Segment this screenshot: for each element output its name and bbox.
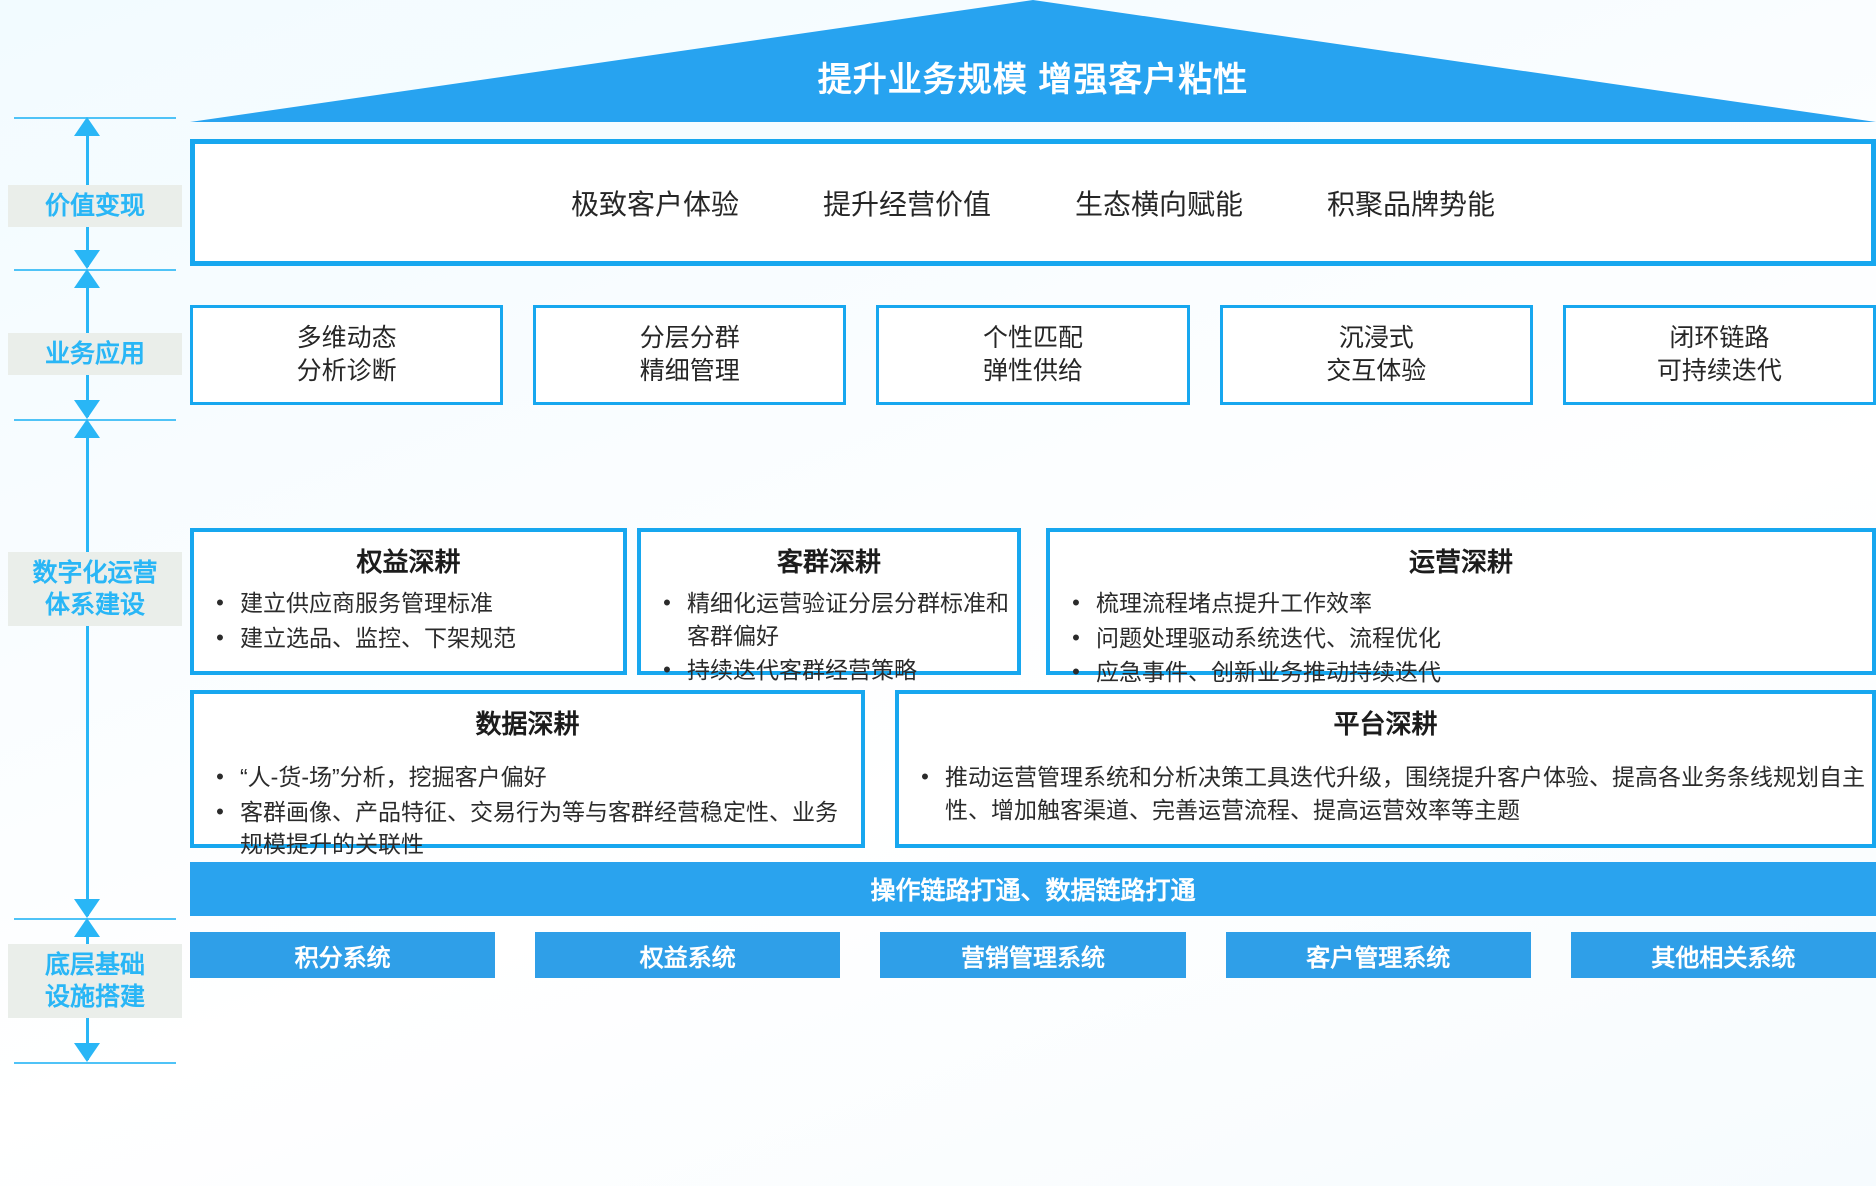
app-box-4-line2: 可持续迭代 [1657, 355, 1782, 388]
deep-box-customer-group-title: 客群深耕 [647, 542, 1011, 579]
bullet-dot-icon: • [200, 796, 240, 827]
value-item-2: 生态横向赋能 [1075, 183, 1243, 223]
value-item-3: 积聚品牌势能 [1327, 183, 1495, 223]
system-box-other[interactable]: 其他相关系统 [1571, 932, 1876, 978]
app-box-1[interactable]: 分层分群 精细管理 [533, 305, 846, 405]
deep-box-operations-bullets: •梳理流程堵点提升工作效率 •问题处理驱动系统迭代、流程优化 •应急事件、创新业… [1056, 587, 1866, 689]
deep-box-operations-title: 运营深耕 [1056, 542, 1866, 579]
bullet-text: 应急事件、创新业务推动持续迭代 [1096, 656, 1866, 689]
deep-box-data-bullets: •“人-货-场”分析，挖掘客户偏好 •客群画像、产品特征、交易行为等与客群经营稳… [200, 761, 855, 861]
bullet-dot-icon: • [1056, 587, 1096, 618]
deep-box-data[interactable]: 数据深耕 •“人-货-场”分析，挖掘客户偏好 •客群画像、产品特征、交易行为等与… [190, 690, 865, 848]
stage-label-infrastructure-line2: 设施搭建 [8, 981, 182, 1013]
bullet-text: 持续迭代客群经营策略 [687, 654, 1011, 687]
bullet-text: 建立供应商服务管理标准 [240, 587, 617, 620]
app-box-0[interactable]: 多维动态 分析诊断 [190, 305, 503, 405]
app-box-3[interactable]: 沉浸式 交互体验 [1220, 305, 1533, 405]
app-box-4[interactable]: 闭环链路 可持续迭代 [1563, 305, 1876, 405]
bullet-text: 梳理流程堵点提升工作效率 [1096, 587, 1866, 620]
bullet-dot-icon: • [647, 587, 687, 618]
link-through-bar[interactable]: 操作链路打通、数据链路打通 [190, 862, 1876, 916]
bullet-dot-icon: • [1056, 656, 1096, 687]
deep-box-operations[interactable]: 运营深耕 •梳理流程堵点提升工作效率 •问题处理驱动系统迭代、流程优化 •应急事… [1046, 528, 1876, 675]
list-item: •应急事件、创新业务推动持续迭代 [1056, 656, 1866, 689]
bullet-dot-icon: • [200, 587, 240, 618]
value-item-0: 极致客户体验 [571, 183, 739, 223]
axis-arrow-up-2 [74, 269, 100, 288]
bullet-text: 精细化运营验证分层分群标准和客群偏好 [687, 587, 1011, 652]
app-box-2[interactable]: 个性匹配 弹性供给 [876, 305, 1189, 405]
bullet-text: 推动运营管理系统和分析决策工具迭代升级，围绕提升客户体验、提高各业务条线规划自主… [945, 761, 1866, 826]
deep-box-platform-bullets: •推动运营管理系统和分析决策工具迭代升级，围绕提升客户体验、提高各业务条线规划自… [905, 761, 1866, 826]
bullet-dot-icon: • [647, 654, 687, 685]
app-box-3-line1: 沉浸式 [1339, 322, 1414, 355]
bullet-dot-icon: • [200, 622, 240, 653]
app-box-4-line1: 闭环链路 [1669, 322, 1769, 355]
system-box-points[interactable]: 积分系统 [190, 932, 495, 978]
diagram-root: 提升业务规模 增强客户粘性 价值变现 业务应用 数字化运营 体系建设 [0, 0, 1876, 1186]
stage-label-digital-operation-line2: 体系建设 [8, 589, 182, 621]
system-box-equity[interactable]: 权益系统 [535, 932, 840, 978]
value-realization-box[interactable]: 极致客户体验 提升经营价值 生态横向赋能 积聚品牌势能 [190, 139, 1876, 266]
app-box-2-line2: 弹性供给 [983, 355, 1083, 388]
list-item: •问题处理驱动系统迭代、流程优化 [1056, 622, 1866, 655]
deep-box-equity-bullets: •建立供应商服务管理标准 •建立选品、监控、下架规范 [200, 587, 617, 654]
app-box-1-line2: 精细管理 [640, 355, 740, 388]
system-box-marketing[interactable]: 营销管理系统 [880, 932, 1185, 978]
app-box-1-line1: 分层分群 [640, 322, 740, 355]
list-item: •持续迭代客群经营策略 [647, 654, 1011, 687]
list-item: •“人-货-场”分析，挖掘客户偏好 [200, 761, 855, 794]
bullet-text: 问题处理驱动系统迭代、流程优化 [1096, 622, 1866, 655]
stage-label-value-realization: 价值变现 [8, 185, 182, 227]
bullet-text: 客群画像、产品特征、交易行为等与客群经营稳定性、业务规模提升的关联性 [240, 796, 855, 861]
stage-label-business-application: 业务应用 [8, 333, 182, 375]
axis-arrow-down-4 [74, 1043, 100, 1062]
axis-arrow-down-2 [74, 400, 100, 419]
value-items: 极致客户体验 提升经营价值 生态横向赋能 积聚品牌势能 [571, 183, 1495, 223]
axis-arrow-up-1 [74, 117, 100, 136]
bullet-text: “人-货-场”分析，挖掘客户偏好 [240, 761, 855, 794]
deep-box-equity-title: 权益深耕 [200, 542, 617, 579]
application-layer-row: 多维动态 分析诊断 分层分群 精细管理 个性匹配 弹性供给 沉浸式 交互体验 闭… [190, 305, 1876, 405]
axis-arrow-up-4 [74, 918, 100, 937]
axis-arrow-down-1 [74, 250, 100, 269]
axis-rule-bottom [14, 1062, 176, 1064]
stage-label-digital-operation: 数字化运营 体系建设 [8, 552, 182, 626]
deep-box-customer-group-bullets: •精细化运营验证分层分群标准和客群偏好 •持续迭代客群经营策略 [647, 587, 1011, 687]
list-item: •客群画像、产品特征、交易行为等与客群经营稳定性、业务规模提升的关联性 [200, 796, 855, 861]
list-item: •建立选品、监控、下架规范 [200, 622, 617, 655]
bullet-text: 建立选品、监控、下架规范 [240, 622, 617, 655]
systems-row: 积分系统 权益系统 营销管理系统 客户管理系统 其他相关系统 [190, 932, 1876, 978]
app-box-3-line2: 交互体验 [1326, 355, 1426, 388]
list-item: •梳理流程堵点提升工作效率 [1056, 587, 1866, 620]
roof-banner: 提升业务规模 增强客户粘性 [190, 0, 1876, 122]
deep-box-data-title: 数据深耕 [200, 704, 855, 741]
axis-arrow-down-3 [74, 899, 100, 918]
deep-box-equity[interactable]: 权益深耕 •建立供应商服务管理标准 •建立选品、监控、下架规范 [190, 528, 627, 675]
axis-arrow-up-3 [74, 419, 100, 438]
stage-label-infrastructure-line1: 底层基础 [8, 949, 182, 981]
list-item: •推动运营管理系统和分析决策工具迭代升级，围绕提升客户体验、提高各业务条线规划自… [905, 761, 1866, 826]
roof-title: 提升业务规模 增强客户粘性 [190, 52, 1876, 101]
list-item: •精细化运营验证分层分群标准和客群偏好 [647, 587, 1011, 652]
app-box-0-line2: 分析诊断 [297, 355, 397, 388]
bullet-dot-icon: • [1056, 622, 1096, 653]
system-box-customer[interactable]: 客户管理系统 [1226, 932, 1531, 978]
axis-stem-3 [86, 426, 89, 916]
stage-label-infrastructure: 底层基础 设施搭建 [8, 944, 182, 1018]
value-item-1: 提升经营价值 [823, 183, 991, 223]
stage-label-digital-operation-line1: 数字化运营 [8, 557, 182, 589]
app-box-2-line1: 个性匹配 [983, 322, 1083, 355]
app-box-0-line1: 多维动态 [297, 322, 397, 355]
deep-box-platform[interactable]: 平台深耕 •推动运营管理系统和分析决策工具迭代升级，围绕提升客户体验、提高各业务… [895, 690, 1876, 848]
deep-box-platform-title: 平台深耕 [905, 704, 1866, 741]
list-item: •建立供应商服务管理标准 [200, 587, 617, 620]
bullet-dot-icon: • [200, 761, 240, 792]
bullet-dot-icon: • [905, 761, 945, 792]
deep-box-customer-group[interactable]: 客群深耕 •精细化运营验证分层分群标准和客群偏好 •持续迭代客群经营策略 [637, 528, 1021, 675]
stage-axis: 价值变现 业务应用 数字化运营 体系建设 底层基础 设施搭建 [0, 0, 190, 1186]
